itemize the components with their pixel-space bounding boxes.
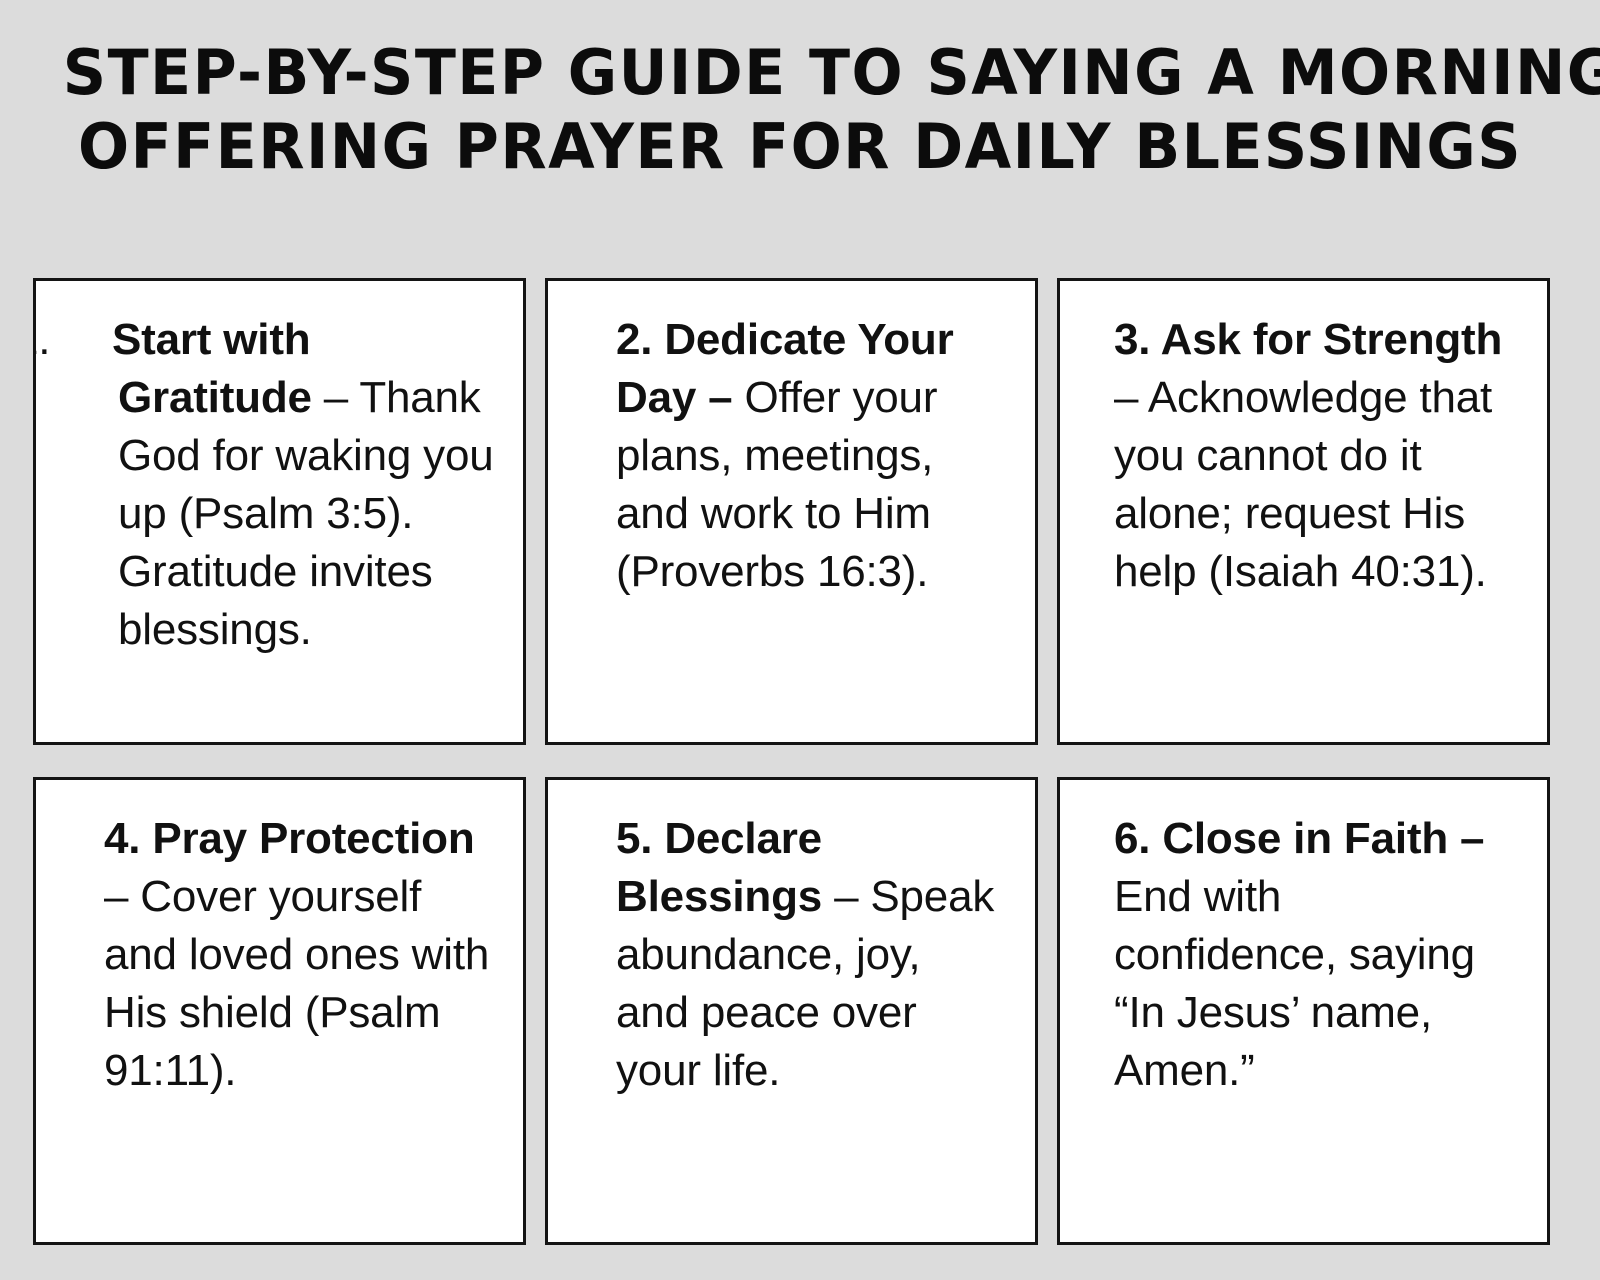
step-1-text: 1.Start with Gratitude – Thank God for w… xyxy=(66,311,497,659)
step-card-2: 2. Dedicate Your Day – Offer your plans,… xyxy=(545,278,1038,745)
step-card-6: 6. Close in Faith – End with confidence,… xyxy=(1057,777,1550,1245)
step-3-description: – Acknowledge that you cannot do it alon… xyxy=(1114,373,1492,596)
step-5-text: 5. Declare Blessings – Speak abundance, … xyxy=(616,810,1003,1100)
step-6-text: 6. Close in Faith – End with confidence,… xyxy=(1114,810,1515,1100)
step-card-4: 4. Pray Protection – Cover yourself and … xyxy=(33,777,526,1245)
step-3-text: 3. Ask for Strength – Acknowledge that y… xyxy=(1114,311,1515,601)
step-card-5: 5. Declare Blessings – Speak abundance, … xyxy=(545,777,1038,1245)
step-card-3: 3. Ask for Strength – Acknowledge that y… xyxy=(1057,278,1550,745)
step-2-separator xyxy=(732,373,744,422)
step-1-separator: – xyxy=(312,373,360,422)
step-4-text: 4. Pray Protection – Cover yourself and … xyxy=(104,810,491,1100)
step-1-heading: Start with Gratitude xyxy=(112,315,312,422)
steps-grid: 1.Start with Gratitude – Thank God for w… xyxy=(33,278,1570,1245)
step-5-separator xyxy=(822,872,834,921)
page-title-line-1: STEP-BY-STEP GUIDE TO SAYING A MORNING xyxy=(63,36,1537,110)
step-6-heading: 6. Close in Faith – xyxy=(1114,814,1484,863)
step-2-text: 2. Dedicate Your Day – Offer your plans,… xyxy=(616,311,1003,601)
step-1-number: 1. xyxy=(66,311,112,369)
step-5-heading: 5. Declare Blessings xyxy=(616,814,822,921)
step-4-heading: 4. Pray Protection xyxy=(104,814,475,863)
page-title-line-2: OFFERING PRAYER FOR DAILY BLESSINGS xyxy=(63,110,1537,184)
step-6-description: End with confidence, saying “In Jesus’ n… xyxy=(1114,872,1475,1095)
step-4-description: – Cover yourself and loved ones with His… xyxy=(104,872,489,1095)
step-card-1: 1.Start with Gratitude – Thank God for w… xyxy=(33,278,526,745)
page-title: STEP-BY-STEP GUIDE TO SAYING A MORNING O… xyxy=(0,36,1600,184)
infographic-page: STEP-BY-STEP GUIDE TO SAYING A MORNING O… xyxy=(0,0,1600,1280)
step-3-heading: 3. Ask for Strength xyxy=(1114,315,1502,364)
